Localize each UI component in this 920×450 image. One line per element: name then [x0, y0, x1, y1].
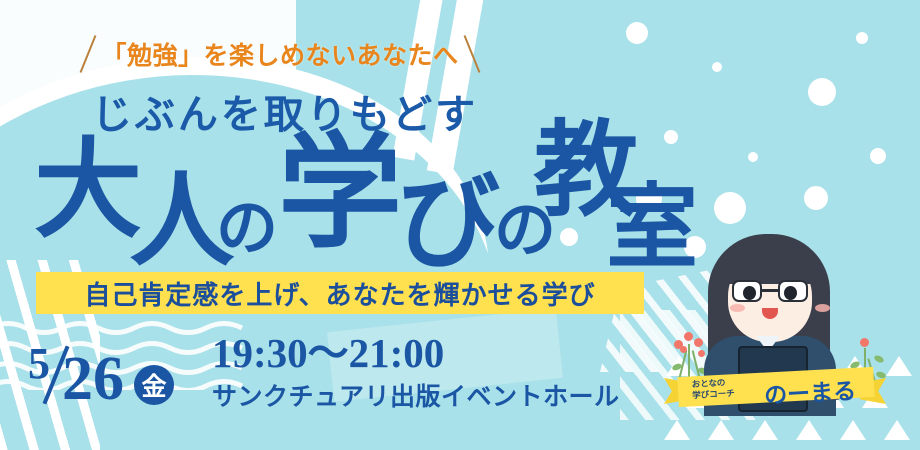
date-month: 5 [28, 342, 50, 386]
dot-pattern-icon [748, 152, 758, 162]
title-char-1: 大 [34, 138, 142, 246]
title-char-5: び [396, 172, 500, 276]
title-char-3: の [216, 198, 278, 260]
tagline-band: 自己肯定感を上げ、あなたを輝かせる学び [36, 272, 644, 314]
page-title: 大 人 の 学 び の 教 室 [34, 120, 674, 260]
time-venue-block: 19:30〜21:00 サンクチュアリ出版イベントホール [212, 332, 620, 413]
bangs-icon [720, 242, 820, 284]
dot-pattern-icon [712, 62, 722, 72]
event-venue: サンクチュアリ出版イベントホール [212, 377, 620, 413]
slash-decor-right-icon [463, 35, 480, 73]
event-time: 19:30〜21:00 [212, 332, 620, 375]
ribbon-name: のーまる [763, 372, 857, 411]
date-day: 26 [62, 348, 124, 410]
ribbon-role: おとなの 学びコーチ [691, 377, 735, 402]
ribbon-role-line2: 学びコーチ [692, 388, 735, 402]
kicker-row: 「勉強」を楽しめないあなたへ [0, 34, 560, 74]
glasses-icon [732, 280, 808, 302]
cheek-right-icon [815, 304, 830, 312]
tagline-text: 自己肯定感を上げ、あなたを輝かせる学び [84, 275, 595, 312]
dot-pattern-icon [804, 186, 828, 210]
title-char-8: 室 [606, 182, 698, 274]
date-day-of-week-badge: 金 [134, 365, 174, 405]
event-banner: 「勉強」を楽しめないあなたへ じぶんを取りもどす 大 人 の 学 び の 教 室… [0, 0, 920, 450]
event-date: 5 26 金 [28, 330, 174, 410]
title-char-4: 学 [278, 132, 402, 256]
dot-pattern-icon [856, 32, 868, 44]
dot-pattern-icon [626, 22, 648, 44]
ribbon-icon: おとなの 学びコーチ のーまる [664, 372, 886, 406]
slash-decor-left-icon [80, 35, 97, 73]
kicker-text: 「勉強」を楽しめないあなたへ [101, 36, 458, 72]
dot-pattern-icon [714, 192, 746, 224]
dot-pattern-icon [870, 148, 886, 164]
cheek-left-icon [730, 304, 745, 312]
dot-pattern-icon [808, 78, 836, 106]
